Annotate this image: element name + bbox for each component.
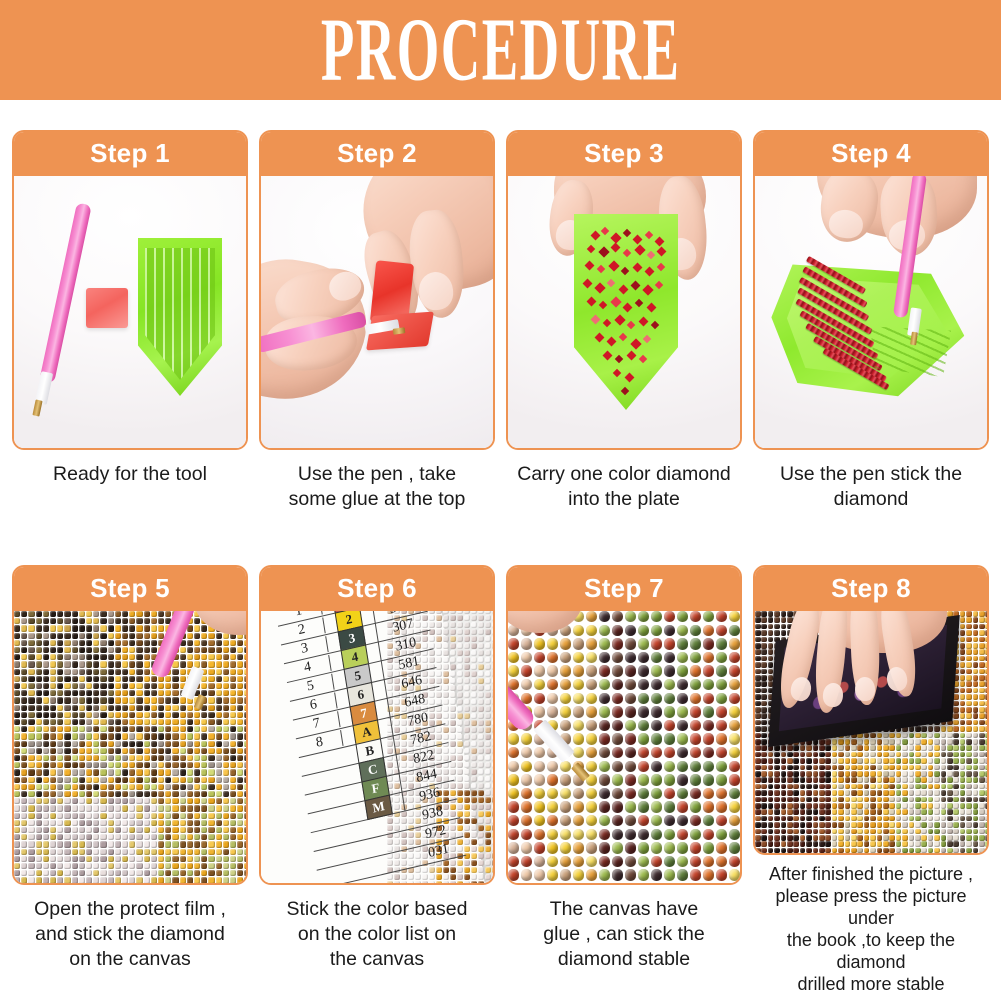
mosaic-bead [36,712,42,718]
round-bead [651,829,662,840]
mosaic-bead [947,790,953,796]
mosaic-bead [180,791,186,797]
mosaic-bead [902,739,908,745]
mosaic-bead [806,822,812,828]
mosaic-bead [115,741,121,747]
mosaic-bead [755,662,761,668]
mosaic-bead [761,841,767,847]
mosaic-bead [492,643,493,649]
mosaic-bead [180,805,186,811]
mosaic-bead [973,765,979,771]
mosaic-bead [158,863,164,869]
mosaic-bead [985,809,987,815]
mosaic-bead [223,690,229,696]
mosaic-bead [172,748,178,754]
mosaic-bead [806,848,812,854]
mosaic-bead [21,741,27,747]
mosaic-bead [108,841,114,847]
mosaic-bead [136,669,142,675]
mosaic-bead [755,758,761,764]
mosaic-bead [870,854,876,855]
mosaic-bead [115,611,121,617]
step-5-header: Step 5 [12,565,248,611]
mosaic-bead [79,733,85,739]
round-bead [534,652,545,663]
round-bead [677,856,688,867]
mosaic-bead [485,611,491,614]
mosaic-bead [165,705,171,711]
round-bead [560,761,571,772]
mosaic-bead [14,877,20,883]
mosaic-bead [136,690,142,696]
mosaic-bead [57,827,63,833]
mosaic-bead [230,690,236,696]
mosaic-bead [851,803,857,809]
mosaic-bead [921,726,927,732]
mosaic-bead [953,694,959,700]
mosaic-bead [28,784,34,790]
mosaic-bead [216,863,222,869]
mosaic-bead [180,726,186,732]
mosaic-bead [464,664,470,670]
mosaic-bead [851,784,857,790]
mosaic-bead [838,835,844,841]
mosaic-bead [909,822,915,828]
round-bead [508,869,519,880]
step-2-header: Step 2 [259,130,495,176]
round-bead [716,611,727,622]
mosaic-bead [928,854,934,855]
round-bead [612,611,623,622]
mosaic-bead [478,867,484,873]
round-bead [664,693,675,704]
mosaic-bead [86,683,92,689]
mosaic-bead [28,834,34,840]
mosaic-bead [100,611,106,617]
mosaic-bead [485,671,491,677]
mosaic-bead [825,745,831,751]
round-bead [651,638,662,649]
mosaic-bead [100,798,106,804]
mosaic-bead [43,834,49,840]
mosaic-bead [819,841,825,847]
mosaic-bead [223,777,229,783]
mosaic-bead [813,829,819,835]
mosaic-bead [201,877,207,883]
mosaic-bead [915,797,921,803]
mosaic-bead [165,856,171,862]
mosaic-bead [50,849,56,855]
mosaic-bead [151,705,157,711]
mosaic-bead [979,675,985,681]
mosaic-bead [864,829,870,835]
mosaic-bead [208,798,214,804]
round-bead [534,761,545,772]
mosaic-bead [979,713,985,719]
mosaic-bead [237,683,243,689]
mosaic-bead [201,748,207,754]
round-bead [521,638,532,649]
mosaic-bead [158,683,164,689]
mosaic-bead [941,822,947,828]
mosaic-bead [492,629,493,635]
round-bead [651,693,662,704]
round-bead [729,733,740,744]
mosaic-bead [825,829,831,835]
mosaic-bead [845,758,851,764]
mosaic-bead [806,745,812,751]
mosaic-bead [136,705,142,711]
mosaic-bead [86,841,92,847]
mosaic-bead [43,849,49,855]
mosaic-bead [122,712,128,718]
mosaic-bead [953,739,959,745]
mosaic-bead [165,683,171,689]
mosaic-bead [50,741,56,747]
mosaic-bead [122,611,128,617]
mosaic-bead [194,805,200,811]
mosaic-bead [793,848,799,854]
round-bead [729,815,740,826]
mosaic-bead [485,629,491,635]
mosaic-bead [129,625,135,631]
round-bead [521,652,532,663]
mosaic-bead [966,803,972,809]
mosaic-bead [79,741,85,747]
mosaic-bead [100,640,106,646]
mosaic-bead [36,769,42,775]
mosaic-bead [857,797,863,803]
mosaic-bead [761,630,767,636]
round-bead [638,733,649,744]
mosaic-bead [457,657,463,663]
mosaic-bead [86,618,92,624]
mosaic-bead [208,791,214,797]
mosaic-bead [832,809,838,815]
round-bead [508,652,519,663]
mosaic-bead [50,755,56,761]
round-bead [599,788,610,799]
mosaic-bead [973,790,979,796]
mosaic-bead [108,777,114,783]
mosaic-bead [216,870,222,876]
mosaic-bead [21,733,27,739]
mosaic-bead [64,676,70,682]
mosaic-bead [889,803,895,809]
mosaic-bead [755,848,761,854]
mosaic-bead [825,771,831,777]
mosaic-bead [122,733,128,739]
mosaic-bead [28,741,34,747]
mosaic-bead [208,661,214,667]
mosaic-bead [36,647,42,653]
mosaic-bead [237,841,243,847]
mosaic-bead [151,805,157,811]
mosaic-bead [21,863,27,869]
mosaic-bead [72,870,78,876]
mosaic-bead [864,848,870,854]
mosaic-bead [985,675,987,681]
mosaic-bead [194,849,200,855]
mosaic-bead [151,870,157,876]
mosaic-bead [832,854,838,855]
mosaic-bead [464,678,470,684]
mosaic-bead [72,791,78,797]
mosaic-bead [14,625,20,631]
mosaic-bead [93,856,99,862]
mosaic-bead [57,813,63,819]
mosaic-bead [768,643,774,649]
mosaic-bead [819,809,825,815]
mosaic-bead [216,755,222,761]
mosaic-bead [187,748,193,754]
mosaic-bead [800,803,806,809]
round-bead [664,788,675,799]
mosaic-bead [230,755,236,761]
mosaic-bead [216,805,222,811]
mosaic-bead [761,739,767,745]
mosaic-bead [57,863,63,869]
mosaic-bead [966,784,972,790]
mosaic-bead [129,618,135,624]
mosaic-bead [244,870,246,876]
mosaic-bead [492,790,493,796]
mosaic-bead [921,790,927,796]
mosaic-bead [774,790,780,796]
round-bead [716,788,727,799]
mosaic-bead [768,752,774,758]
mosaic-bead [50,647,56,653]
mosaic-bead [180,784,186,790]
mosaic-bead [941,745,947,751]
chart-serial [312,831,357,841]
mosaic-bead [187,633,193,639]
mosaic-bead [492,734,493,740]
mosaic-bead [806,777,812,783]
mosaic-bead [960,617,966,623]
mosaic-bead [93,863,99,869]
mosaic-bead [870,797,876,803]
mosaic-bead [57,791,63,797]
mosaic-bead [43,726,49,732]
mosaic-bead [21,877,27,883]
mosaic-bead [100,669,106,675]
mosaic-bead [896,803,902,809]
mosaic-bead [819,848,825,854]
mosaic-bead [953,816,959,822]
mosaic-bead [230,654,236,660]
mosaic-bead [870,752,876,758]
round-bead [638,693,649,704]
mosaic-bead [172,697,178,703]
round-bead [508,842,519,853]
round-bead [638,747,649,758]
mosaic-bead [813,784,819,790]
mosaic-bead [492,657,493,663]
mosaic-bead [86,676,92,682]
mosaic-bead [64,712,70,718]
mosaic-bead [774,829,780,835]
mosaic-bead [230,877,236,883]
mosaic-bead [115,769,121,775]
mosaic-bead [244,669,246,675]
mosaic-bead [781,829,787,835]
mosaic-bead [478,713,484,719]
mosaic-bead [50,784,56,790]
mosaic-bead [79,748,85,754]
mosaic-bead [877,752,883,758]
round-bead [677,815,688,826]
mosaic-bead [237,877,243,883]
mosaic-bead [14,798,20,804]
mosaic-bead [755,694,761,700]
mosaic-bead [237,669,243,675]
mosaic-bead [485,748,491,754]
mosaic-bead [953,765,959,771]
mosaic-bead [144,769,150,775]
mosaic-bead [57,777,63,783]
mosaic-bead [216,669,222,675]
mosaic-bead [28,827,34,833]
mosaic-bead [966,624,972,630]
mosaic-bead [151,647,157,653]
mosaic-bead [194,633,200,639]
mosaic-bead [151,697,157,703]
mosaic-bead [136,625,142,631]
round-bead [638,679,649,690]
mosaic-bead [761,752,767,758]
mosaic-bead [57,769,63,775]
mosaic-bead [201,654,207,660]
mosaic-bead [883,797,889,803]
round-bead [521,733,532,744]
mosaic-bead [896,854,902,855]
mosaic-bead [973,643,979,649]
mosaic-bead [870,848,876,854]
mosaic-bead [806,816,812,822]
mosaic-bead [947,777,953,783]
steps-row-bottom: Step 5 Open the protect film , and stick… [0,565,1001,995]
round-bead [521,747,532,758]
mosaic-bead [825,803,831,809]
mosaic-bead [825,777,831,783]
mosaic-bead [237,863,243,869]
mosaic-bead [838,790,844,796]
mosaic-bead [793,803,799,809]
mosaic-bead [889,752,895,758]
mosaic-bead [947,758,953,764]
mosaic-bead [36,640,42,646]
round-bead [573,652,584,663]
mosaic-bead [187,654,193,660]
mosaic-bead [960,701,966,707]
mosaic-bead [50,762,56,768]
round-bead [573,842,584,853]
mosaic-bead [64,719,70,725]
mosaic-bead [208,690,214,696]
mosaic-bead [194,741,200,747]
mosaic-bead [187,856,193,862]
mosaic-bead [492,713,493,719]
mosaic-bead [902,758,908,764]
mosaic-bead [478,720,484,726]
round-bead [612,774,623,785]
mosaic-bead [64,748,70,754]
mosaic-bead [966,745,972,751]
mosaic-bead [208,805,214,811]
round-bead [508,638,519,649]
mosaic-bead [838,803,844,809]
round-bead [729,856,740,867]
round-bead [599,638,610,649]
step-8-image [755,611,987,855]
mosaic-bead [230,784,236,790]
mosaic-bead [960,816,966,822]
mosaic-bead [108,669,114,675]
mosaic-bead [471,678,477,684]
mosaic-bead [947,726,953,732]
mosaic-bead [793,841,799,847]
mosaic-bead [151,841,157,847]
mosaic-bead [144,820,150,826]
mosaic-bead [144,856,150,862]
mosaic-bead [216,683,222,689]
round-bead [573,720,584,731]
mosaic-bead [941,752,947,758]
mosaic-bead [889,835,895,841]
mosaic-bead [144,676,150,682]
mosaic-bead [973,649,979,655]
mosaic-bead [36,877,42,883]
mosaic-bead [165,733,171,739]
mosaic-bead [485,769,491,775]
mosaic-bead [755,777,761,783]
round-bead [716,842,727,853]
mosaic-bead [21,726,27,732]
mosaic-bead [122,755,128,761]
mosaic-bead [244,676,246,682]
mosaic-bead [973,617,979,623]
mosaic-bead [122,791,128,797]
mosaic-bead [960,726,966,732]
mosaic-bead [36,863,42,869]
mosaic-bead [966,694,972,700]
mosaic-bead [979,726,985,732]
mosaic-bead [57,834,63,840]
mosaic-bead [57,647,63,653]
mosaic-bead [973,752,979,758]
mosaic-bead [985,803,987,809]
mosaic-bead [813,771,819,777]
mosaic-bead [896,790,902,796]
round-bead [625,625,636,636]
round-bead [534,665,545,676]
mosaic-bead [57,618,63,624]
mosaic-bead [216,705,222,711]
mosaic-bead [387,881,393,883]
mosaic-bead [180,820,186,826]
mosaic-bead [915,841,921,847]
mosaic-bead [883,745,889,751]
mosaic-bead [889,758,895,764]
mosaic-bead [921,822,927,828]
mosaic-bead [64,661,70,667]
mosaic-bead [208,712,214,718]
round-bead [625,829,636,840]
mosaic-bead [14,748,20,754]
mosaic-bead [28,676,34,682]
mosaic-bead [915,784,921,790]
